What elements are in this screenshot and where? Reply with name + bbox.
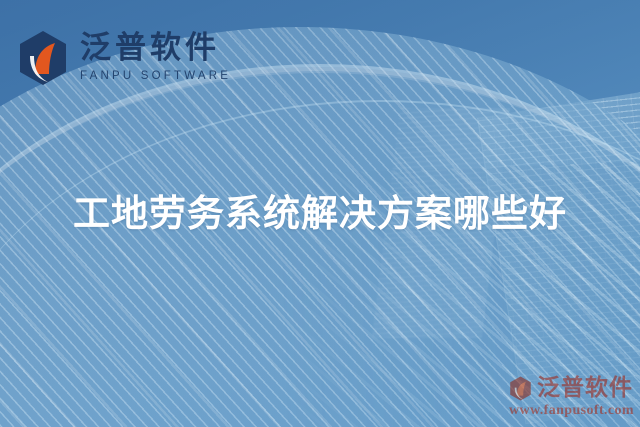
fanpu-hexagon-logo-icon bbox=[18, 30, 68, 86]
headline-title: 工地劳务系统解决方案哪些好 bbox=[0, 183, 640, 237]
brand-name-en: FANPU SOFTWARE bbox=[80, 71, 231, 83]
fanpu-hexagon-logo-icon bbox=[509, 376, 532, 401]
watermark-logo-row: 泛普软件 bbox=[509, 376, 634, 401]
watermark: 泛普软件 www.fanpusoft.com bbox=[509, 376, 634, 419]
watermark-name-cn: 泛普软件 bbox=[537, 377, 633, 400]
promo-banner: 泛普软件 FANPU SOFTWARE 工地劳务系统解决方案哪些好 泛普软件 w… bbox=[0, 0, 640, 427]
watermark-url: www.fanpusoft.com bbox=[509, 403, 634, 419]
brand-name-cn: 泛普软件 bbox=[80, 33, 231, 64]
brand-wordmark: 泛普软件 FANPU SOFTWARE bbox=[80, 33, 231, 83]
brand-lockup: 泛普软件 FANPU SOFTWARE bbox=[18, 30, 231, 86]
